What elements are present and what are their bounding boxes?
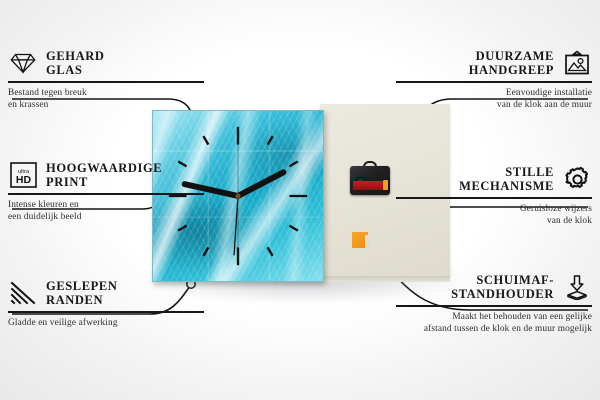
feature-header: GESLEPEN RANDEN <box>8 278 204 308</box>
feature-title: STILLE MECHANISME <box>459 165 554 193</box>
gear-icon <box>562 164 592 194</box>
battery <box>353 181 385 190</box>
feature-divider <box>396 197 592 199</box>
feature-subtitle: Bestand tegen breuk en krassen <box>8 87 204 112</box>
feature-header: ultra HD HOOGWAARDIGE PRINT <box>8 160 204 190</box>
feature-title: DUURZAME HANDGREEP <box>469 49 554 77</box>
ultra-hd-badge-icon: ultra HD <box>8 160 38 190</box>
feature-hoogwaardige-print: ultra HD HOOGWAARDIGE PRINT Intense kleu… <box>8 160 204 223</box>
feature-divider <box>396 81 592 83</box>
feature-title: GEHARD GLAS <box>46 49 104 77</box>
diagonal-lines-icon <box>8 278 38 308</box>
feature-divider <box>396 305 592 307</box>
feature-title: HOOGWAARDIGE PRINT <box>46 161 162 189</box>
feature-subtitle: Intense kleuren en een duidelijk beeld <box>8 199 204 224</box>
feature-subtitle: Maakt het behouden van een gelijke afsta… <box>396 311 592 336</box>
feature-subtitle: Geruisloze wijzers van de klok <box>396 203 592 228</box>
feature-duurzame-handgreep: DUURZAME HANDGREEP Eenvoudige installati… <box>396 48 592 111</box>
foam-spacer-pad <box>352 232 368 248</box>
feature-header: STILLE MECHANISME <box>396 164 592 194</box>
feature-stille-mechanisme: STILLE MECHANISME Geruisloze wijzers van… <box>396 164 592 227</box>
feature-subtitle: Eenvoudige installatie van de klok aan d… <box>396 87 592 112</box>
feature-divider <box>8 193 204 195</box>
infographic-canvas: GEHARD GLAS Bestand tegen breuk en krass… <box>0 0 600 400</box>
feature-title: SCHUIMAF- STANDHOUDER <box>451 273 554 301</box>
feature-geslepen-randen: GESLEPEN RANDEN Gladde en veilige afwerk… <box>8 278 204 329</box>
feature-header: SCHUIMAF- STANDHOUDER <box>396 272 592 302</box>
svg-text:HD: HD <box>15 174 31 186</box>
picture-hanger-icon <box>562 48 592 78</box>
battery-positive-terminal <box>383 180 388 190</box>
feature-header: DUURZAME HANDGREEP <box>396 48 592 78</box>
feature-title: GESLEPEN RANDEN <box>46 279 118 307</box>
feature-gehard-glas: GEHARD GLAS Bestand tegen breuk en krass… <box>8 48 204 111</box>
feature-divider <box>8 81 204 83</box>
second-hand <box>234 196 238 255</box>
clock-mechanism <box>350 161 390 195</box>
hands-center-cap <box>235 193 240 198</box>
feature-divider <box>8 311 204 313</box>
diamond-icon <box>8 48 38 78</box>
minute-hand <box>238 172 283 196</box>
feature-subtitle: Gladde en veilige afwerking <box>8 317 204 329</box>
feature-header: GEHARD GLAS <box>8 48 204 78</box>
feature-schuimafstandhouder: SCHUIMAF- STANDHOUDER Maakt het behouden… <box>396 272 592 335</box>
foam-spacer-icon <box>562 272 592 302</box>
